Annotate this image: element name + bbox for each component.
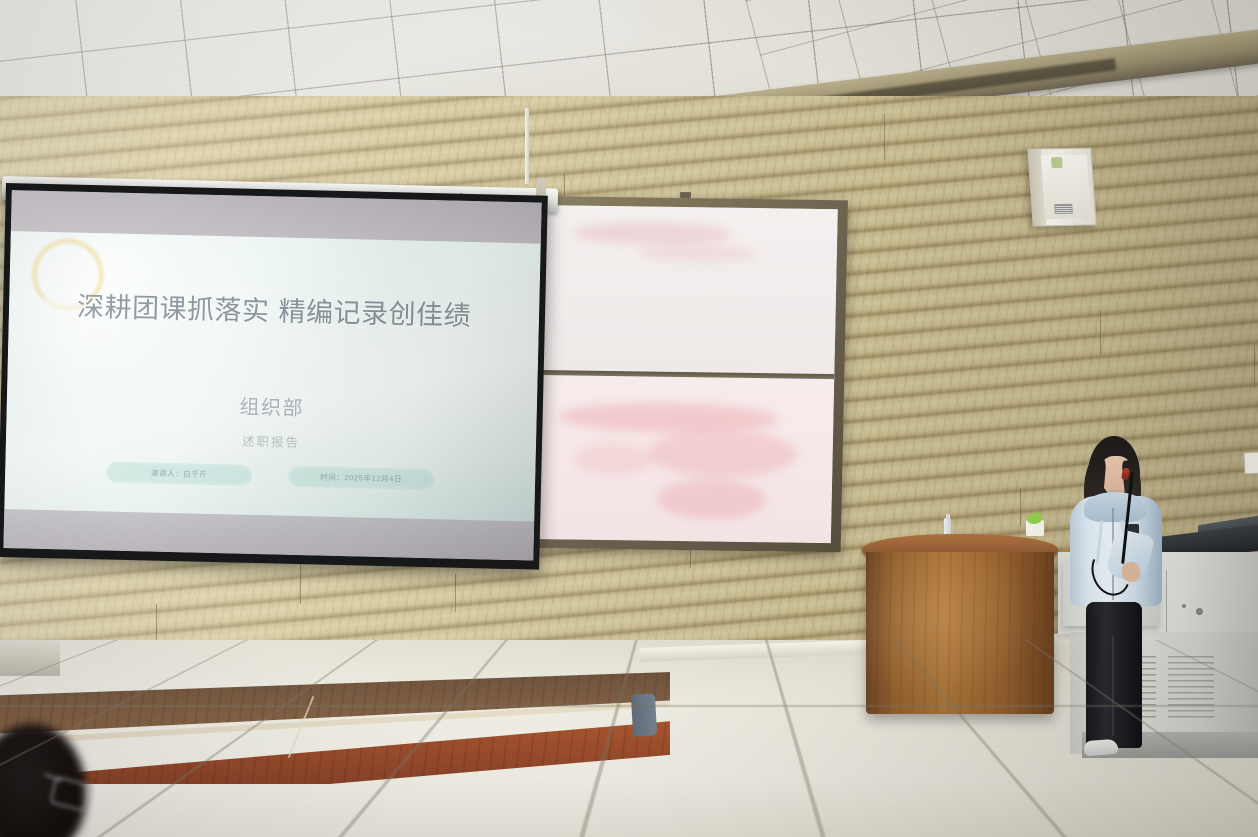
presenter: [1062, 436, 1172, 760]
presenter-hood: [1084, 492, 1146, 522]
slide-subtitle: 述职报告: [6, 425, 536, 456]
wall-panel-seam: [455, 574, 456, 612]
small-plant[interactable]: [1026, 520, 1044, 536]
whiteboard: [529, 196, 848, 552]
projector-screen: 深耕团课抓落实 精编记录创佳绩 组织部 述职报告 演讲人：白千斤 时间：2025…: [0, 183, 548, 570]
speaker-status-led: [1051, 157, 1063, 168]
wall-floor-shadow: [0, 636, 60, 676]
slide-date-pill: 时间：2025年12月4日: [288, 465, 434, 489]
wall-panel-seam: [156, 604, 157, 642]
wall-panel-seam: [1100, 310, 1101, 354]
console-small-lock[interactable]: [1182, 604, 1186, 608]
stage-end-cap: [631, 693, 657, 736]
projector-screen-surface: 深耕团课抓落实 精编记录创佳绩 组织部 述职报告 演讲人：白千斤 时间：2025…: [3, 190, 541, 560]
wall-panel-seam: [1020, 488, 1021, 526]
wooden-riser-platform: [0, 672, 670, 788]
screen-ceiling-drop-rod: [525, 108, 529, 184]
presentation-slide: 深耕团课抓落实 精编记录创佳绩 组织部 述职报告 演讲人：白千斤 时间：2025…: [4, 231, 540, 521]
wall-plate-right: [1243, 452, 1258, 475]
console-door-lock[interactable]: [1196, 608, 1203, 615]
classroom-scene: 深耕团课抓落实 精编记录创佳绩 组织部 述职报告 演讲人：白千斤 时间：2025…: [0, 0, 1258, 837]
slide-presenter-pill: 演讲人：白千斤: [106, 461, 252, 485]
wall-panel-seam: [884, 114, 885, 160]
speaker-brand-label: [1054, 204, 1073, 214]
presenter-shoe: [1084, 739, 1119, 756]
lectern-body: [866, 552, 1054, 714]
slide-meta-pills: 演讲人：白千斤 时间：2025年12月4日: [5, 459, 535, 492]
wall-mounted-speaker: [1027, 148, 1097, 227]
whiteboard-surface: [536, 205, 838, 543]
presenter-leg-separation: [1112, 636, 1114, 736]
presenter-trousers: [1086, 602, 1142, 748]
wall-panel-seam: [300, 564, 301, 604]
wall-panel-seam: [1254, 344, 1255, 388]
whiteboard-top-clip: [680, 192, 691, 198]
slide-department: 组织部: [7, 385, 538, 426]
console-vent-slots-right: [1168, 656, 1214, 718]
wooden-lectern: [862, 534, 1058, 716]
